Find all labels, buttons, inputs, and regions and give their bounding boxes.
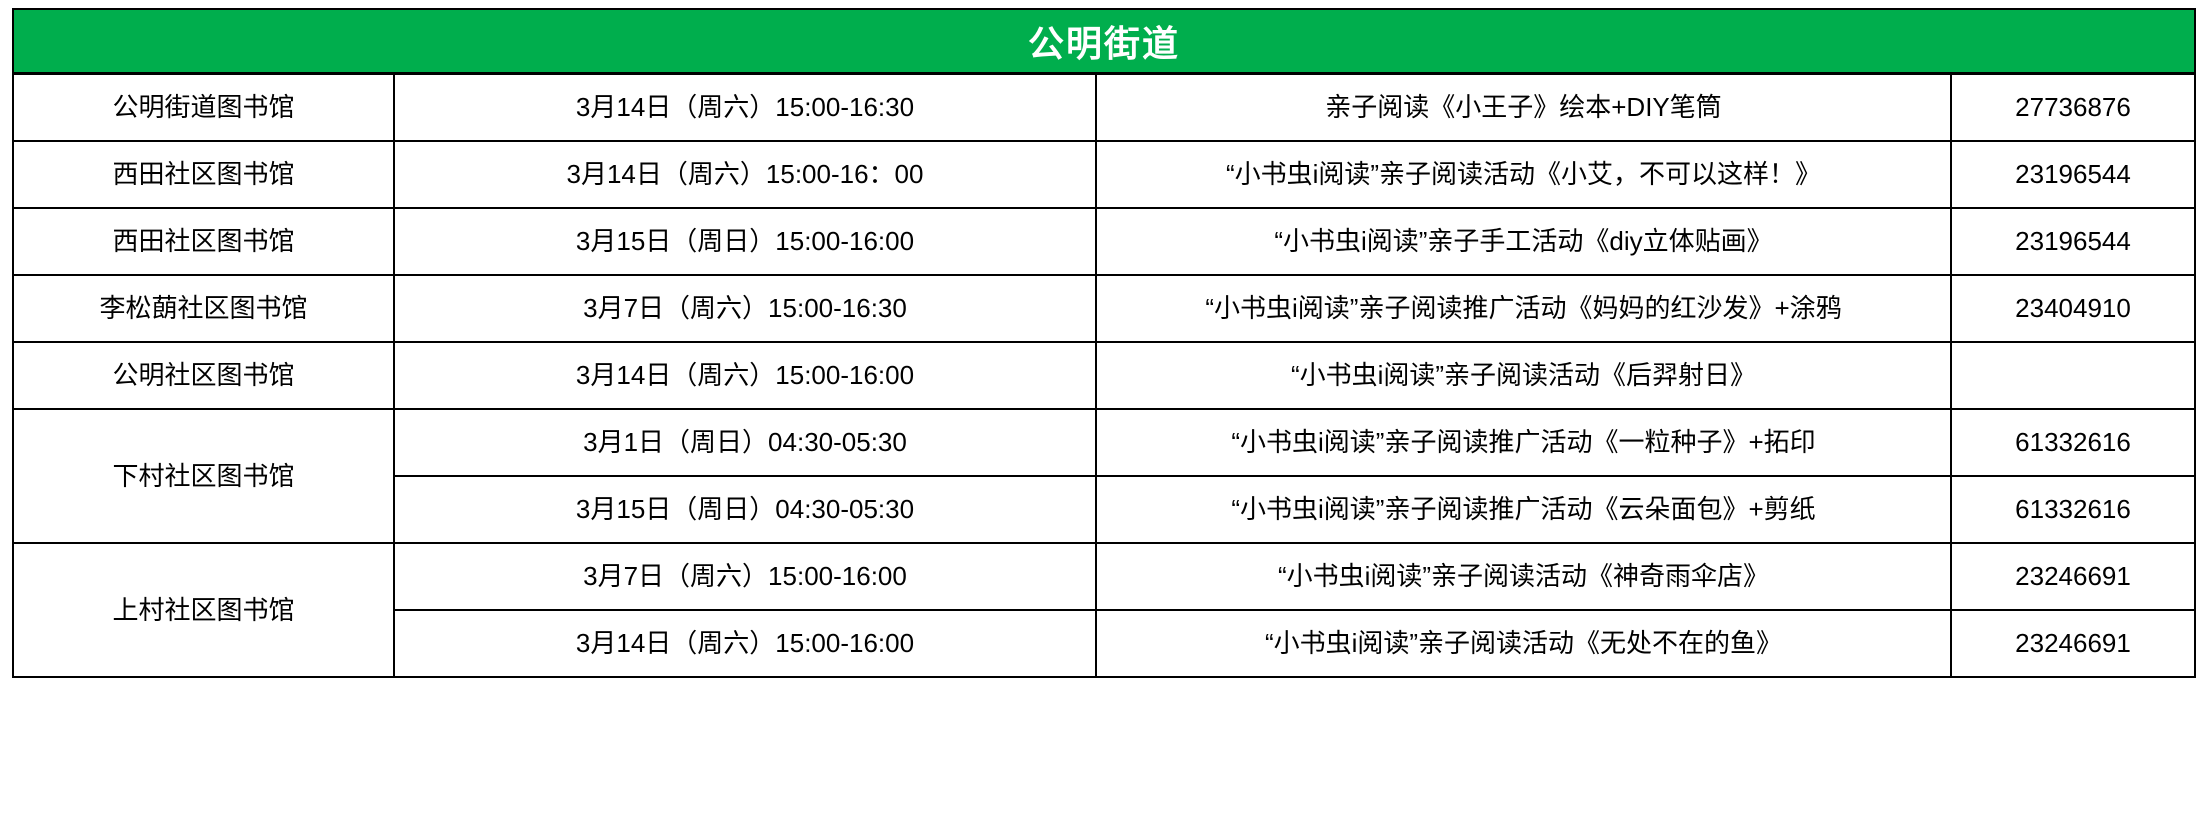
phone-cell: 23246691 (1951, 543, 2195, 610)
datetime-cell: 3月1日（周日）04:30-05:30 (394, 409, 1096, 476)
datetime-cell: 3月14日（周六）15:00-16:00 (394, 610, 1096, 677)
page-title: 公明街道 (13, 9, 2195, 74)
phone-cell: 61332616 (1951, 409, 2195, 476)
datetime-cell: 3月14日（周六）15:00-16:30 (394, 74, 1096, 142)
activity-cell: “小书虫i阅读”亲子阅读推广活动《云朵面包》+剪纸 (1096, 476, 1951, 543)
activity-cell: 亲子阅读《小王子》绘本+DIY笔筒 (1096, 74, 1951, 142)
table-body: 公明街道图书馆3月14日（周六）15:00-16:30亲子阅读《小王子》绘本+D… (13, 74, 2195, 678)
datetime-cell: 3月15日（周日）15:00-16:00 (394, 208, 1096, 275)
activity-cell: “小书虫i阅读”亲子阅读推广活动《妈妈的红沙发》+涂鸦 (1096, 275, 1951, 342)
activity-cell: “小书虫i阅读”亲子阅读活动《无处不在的鱼》 (1096, 610, 1951, 677)
datetime-cell: 3月14日（周六）15:00-16：00 (394, 141, 1096, 208)
table-row: 公明社区图书馆3月14日（周六）15:00-16:00“小书虫i阅读”亲子阅读活… (13, 342, 2195, 409)
datetime-cell: 3月7日（周六）15:00-16:30 (394, 275, 1096, 342)
venue-cell: 公明街道图书馆 (13, 74, 394, 142)
table-row: 西田社区图书馆3月15日（周日）15:00-16:00“小书虫i阅读”亲子手工活… (13, 208, 2195, 275)
table-header-row: 公明街道 (13, 9, 2195, 74)
activity-cell: “小书虫i阅读”亲子阅读活动《神奇雨伞店》 (1096, 543, 1951, 610)
phone-cell: 61332616 (1951, 476, 2195, 543)
datetime-cell: 3月15日（周日）04:30-05:30 (394, 476, 1096, 543)
table-row: 上村社区图书馆3月7日（周六）15:00-16:00“小书虫i阅读”亲子阅读活动… (13, 543, 2195, 610)
activity-cell: “小书虫i阅读”亲子手工活动《diy立体贴画》 (1096, 208, 1951, 275)
datetime-cell: 3月14日（周六）15:00-16:00 (394, 342, 1096, 409)
table-row: 公明街道图书馆3月14日（周六）15:00-16:30亲子阅读《小王子》绘本+D… (13, 74, 2195, 142)
activity-cell: “小书虫i阅读”亲子阅读推广活动《一粒种子》+拓印 (1096, 409, 1951, 476)
table-row: 西田社区图书馆3月14日（周六）15:00-16：00“小书虫i阅读”亲子阅读活… (13, 141, 2195, 208)
activity-schedule-table: 公明街道 公明街道图书馆3月14日（周六）15:00-16:30亲子阅读《小王子… (12, 8, 2196, 678)
activity-cell: “小书虫i阅读”亲子阅读活动《小艾，不可以这样！》 (1096, 141, 1951, 208)
table-row: 下村社区图书馆3月1日（周日）04:30-05:30“小书虫i阅读”亲子阅读推广… (13, 409, 2195, 476)
venue-cell: 公明社区图书馆 (13, 342, 394, 409)
phone-cell: 23246691 (1951, 610, 2195, 677)
venue-cell: 下村社区图书馆 (13, 409, 394, 543)
schedule-container: 公明街道 公明街道图书馆3月14日（周六）15:00-16:30亲子阅读《小王子… (0, 0, 2206, 832)
activity-cell: “小书虫i阅读”亲子阅读活动《后羿射日》 (1096, 342, 1951, 409)
phone-cell (1951, 342, 2195, 409)
venue-cell: 西田社区图书馆 (13, 141, 394, 208)
table-row: 李松蓢社区图书馆3月7日（周六）15:00-16:30“小书虫i阅读”亲子阅读推… (13, 275, 2195, 342)
phone-cell: 27736876 (1951, 74, 2195, 142)
phone-cell: 23196544 (1951, 208, 2195, 275)
venue-cell: 上村社区图书馆 (13, 543, 394, 677)
datetime-cell: 3月7日（周六）15:00-16:00 (394, 543, 1096, 610)
venue-cell: 李松蓢社区图书馆 (13, 275, 394, 342)
phone-cell: 23404910 (1951, 275, 2195, 342)
phone-cell: 23196544 (1951, 141, 2195, 208)
venue-cell: 西田社区图书馆 (13, 208, 394, 275)
